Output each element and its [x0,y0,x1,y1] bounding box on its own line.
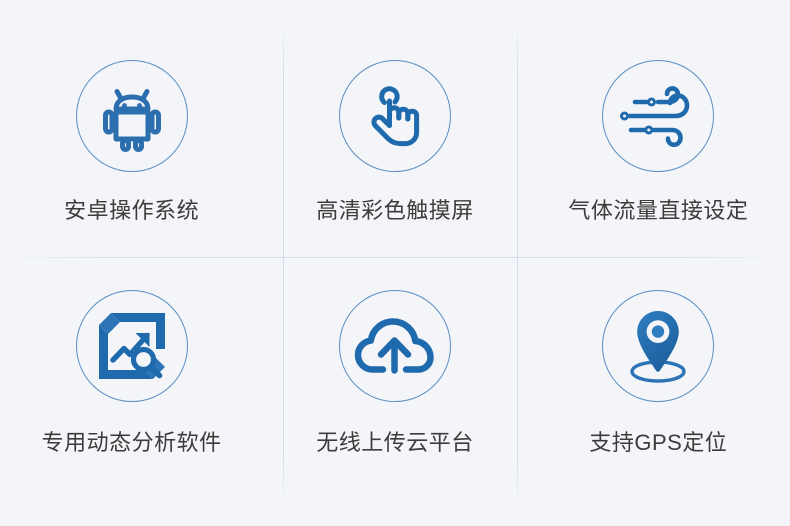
icon-circle-touchscreen [339,60,451,172]
icon-circle-gps [602,290,714,402]
android-robot-icon [94,78,170,154]
feature-cell-gps: 支持GPS定位 [527,263,790,526]
feature-cell-analysis: 专用动态分析软件 [0,263,263,526]
chart-analysis-icon [97,311,167,381]
feature-label: 无线上传云平台 [316,432,474,454]
feature-label: 专用动态分析软件 [42,432,222,454]
icon-circle-cloudupload [339,290,451,402]
cloud-upload-icon [354,315,436,377]
feature-label: 气体流量直接设定 [568,200,748,222]
feature-grid: 安卓操作系统 高清彩色触摸屏 [0,0,790,526]
feature-label: 安卓操作系统 [64,200,199,222]
gps-location-pin-icon [624,308,692,384]
feature-cell-touchscreen: 高清彩色触摸屏 [263,0,526,263]
feature-cell-android: 安卓操作系统 [0,0,263,263]
feature-cell-gasflow: 气体流量直接设定 [527,0,790,263]
icon-circle-analysis [76,290,188,402]
wind-airflow-icon [617,84,699,148]
icon-circle-gasflow [602,60,714,172]
feature-cell-cloudupload: 无线上传云平台 [263,263,526,526]
feature-label: 支持GPS定位 [589,432,727,454]
touch-hand-icon [358,79,432,153]
feature-label: 高清彩色触摸屏 [316,200,474,222]
icon-circle-android [76,60,188,172]
